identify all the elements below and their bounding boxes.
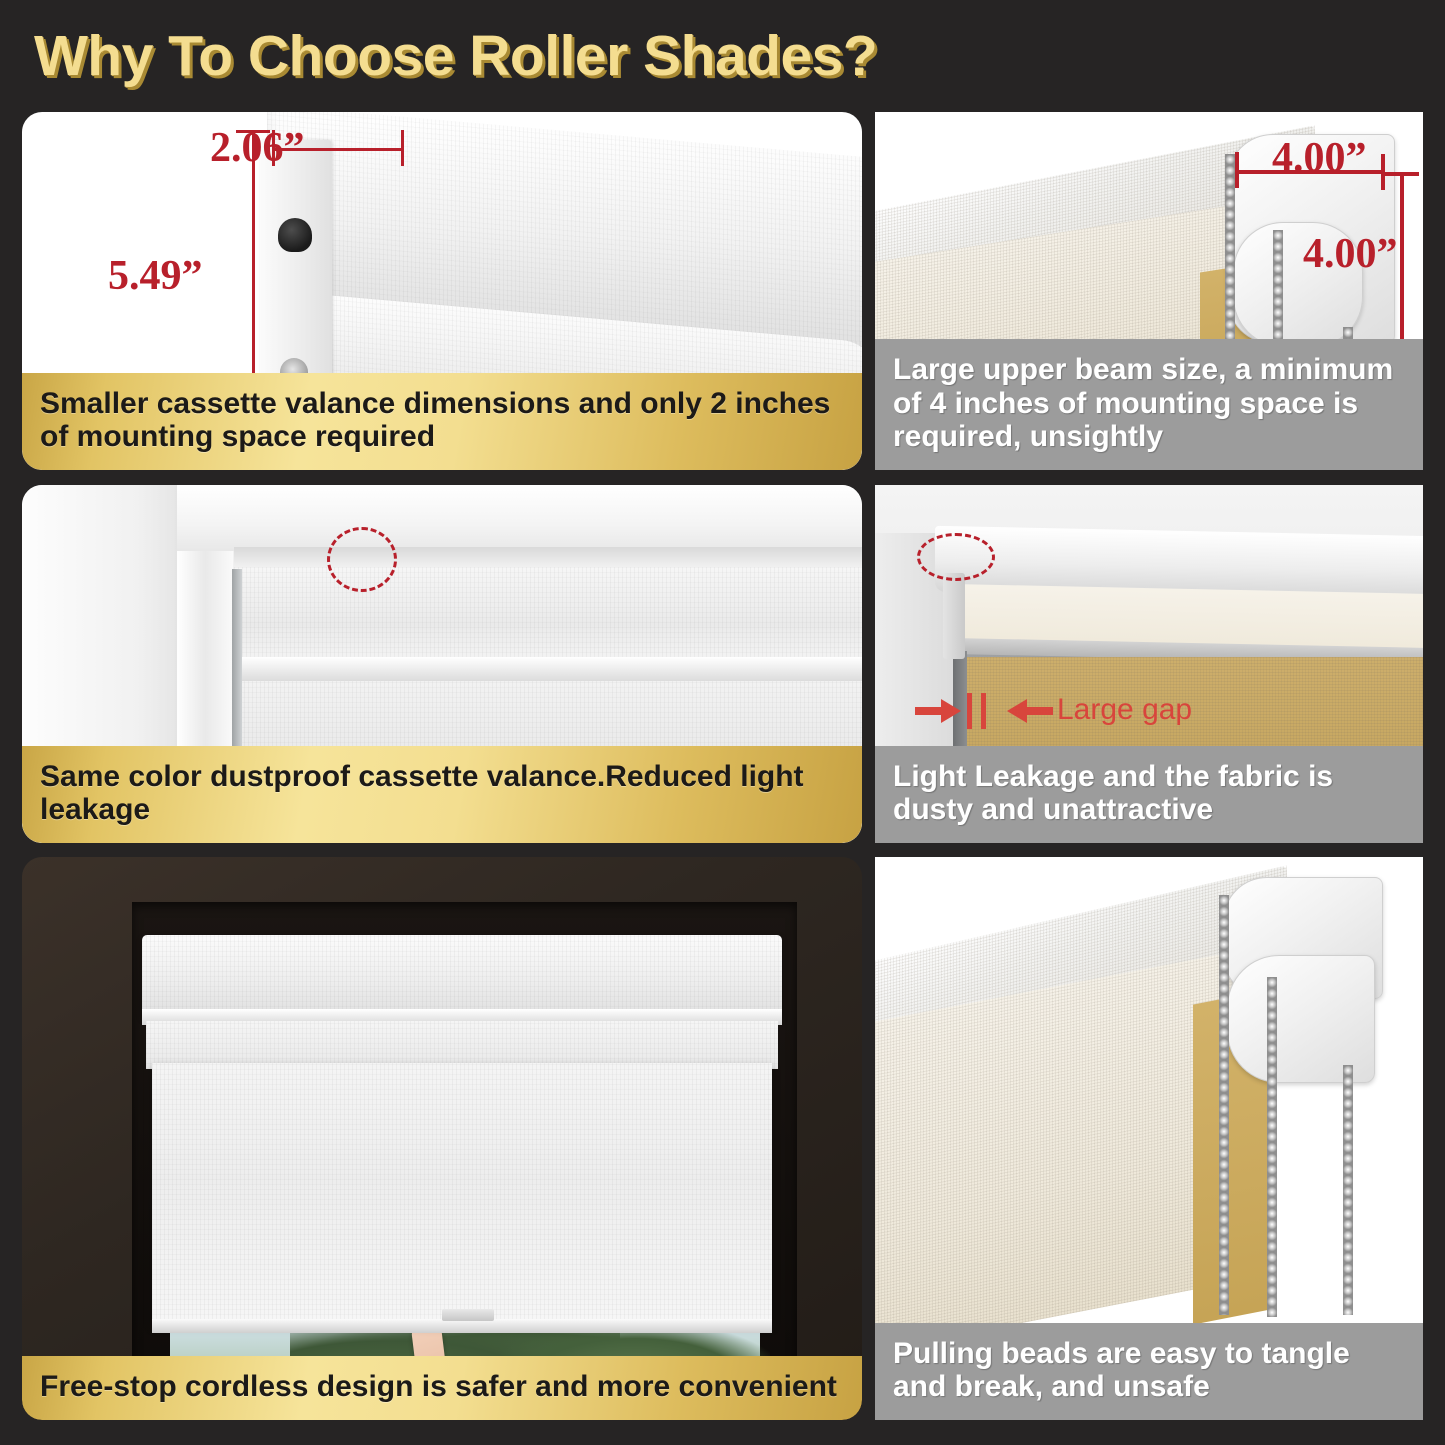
panel-cordless-design: Free-stop cordless design is safer and m… — [22, 857, 862, 1420]
panel-light-leakage: Large gap Light Leakage and the fabric i… — [875, 485, 1423, 843]
dim-beam-height-tick-top — [1383, 172, 1419, 176]
mounting-clip — [943, 573, 965, 659]
dimension-beam-height-label: 4.00” — [1303, 230, 1398, 278]
bead-chain-tail — [1343, 1065, 1353, 1315]
panel-3-caption: Same color dustproof cassette valance.Re… — [22, 746, 862, 843]
gap-highlight-circle — [327, 527, 397, 592]
large-gap-label: Large gap — [1057, 693, 1192, 727]
roller-end-cap-lower — [1227, 955, 1375, 1083]
dim-beam-height-line — [1400, 172, 1404, 350]
window-frame-top — [177, 485, 862, 551]
dim-beam-width-tick-left — [1235, 152, 1239, 188]
valance-headrail — [142, 935, 782, 1017]
panel-4-caption: Light Leakage and the fabric is dusty an… — [875, 746, 1423, 843]
shade-pull-tab — [442, 1309, 494, 1321]
gap-highlight-circle — [917, 533, 995, 581]
valance-bottom-lip — [234, 657, 862, 681]
panel-2-caption: Large upper beam size, a minimum of 4 in… — [875, 339, 1423, 470]
panel-1-caption: Smaller cassette valance dimensions and … — [22, 373, 862, 470]
panel-5-caption: Free-stop cordless design is safer and m… — [22, 1356, 862, 1420]
bracket-slot-icon — [278, 218, 312, 252]
dim-width-tick-right — [401, 130, 404, 166]
gap-arrows-icon — [915, 691, 1055, 735]
panel-pulling-beads: Pulling beads are easy to tangle and bre… — [875, 857, 1423, 1420]
panel-large-beam: 4.00” 4.00” Large upper beam size, a min… — [875, 112, 1423, 470]
panel-dustproof-valance: smaller gap Same color dustproof cassett… — [22, 485, 862, 843]
page-title-text: Why To Choose Roller Shades? — [34, 20, 1334, 92]
bead-chain-middle — [1267, 977, 1277, 1317]
dimension-width-label: 2.06” — [210, 124, 305, 172]
valance-face-panel — [234, 567, 862, 663]
panel-smaller-cassette: 2.06” 5.49” Smaller cassette valance dim… — [22, 112, 862, 470]
panel-6-caption: Pulling beads are easy to tangle and bre… — [875, 1323, 1423, 1420]
dimension-beam-width-label: 4.00” — [1272, 134, 1367, 182]
shade-bottom-rail — [152, 1319, 772, 1333]
page-title: Why To Choose Roller Shades? — [34, 20, 1334, 92]
bead-chain-front — [1219, 895, 1229, 1315]
valance-lower-skirt — [146, 1021, 778, 1069]
dimension-height-label: 5.49” — [108, 252, 203, 300]
shade-main-fabric — [152, 1063, 772, 1325]
